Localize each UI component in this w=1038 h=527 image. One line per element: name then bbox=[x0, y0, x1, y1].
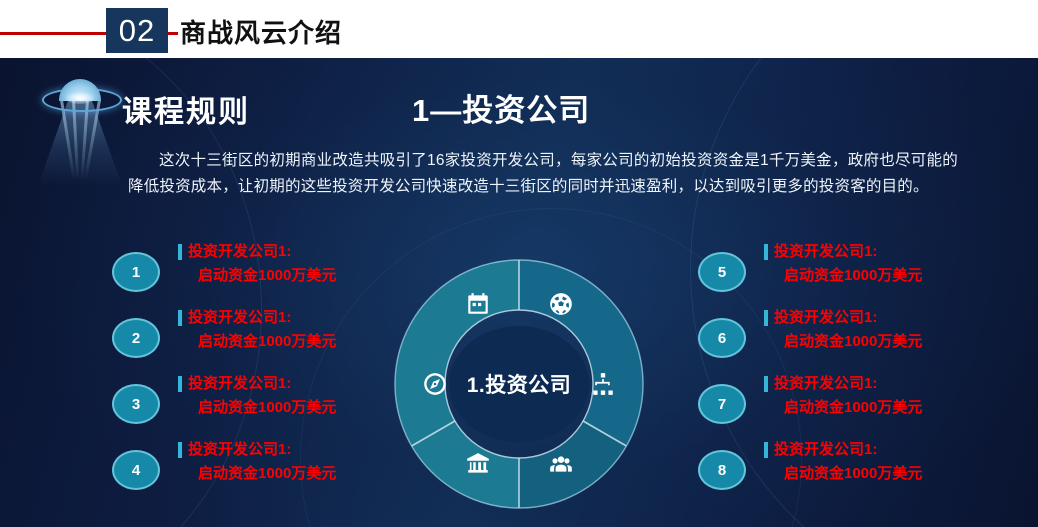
donut-center-label: 1.投资公司 bbox=[467, 369, 572, 399]
bank-icon bbox=[465, 451, 491, 477]
item-line1: 投资开发公司1: bbox=[188, 375, 291, 392]
header-red-rule bbox=[0, 32, 112, 35]
item-accent-bar bbox=[764, 376, 768, 392]
item-accent-bar bbox=[178, 244, 182, 260]
hierarchy-icon bbox=[590, 371, 616, 397]
item-line2: 启动资金1000万美元 bbox=[774, 264, 922, 288]
item-line1: 投资开发公司1: bbox=[188, 309, 291, 326]
item-number: 8 bbox=[718, 463, 726, 478]
list-item[interactable]: 2 投资开发公司1: 启动资金1000万美元 bbox=[112, 306, 382, 372]
item-number: 7 bbox=[718, 397, 726, 412]
globe-icon bbox=[548, 291, 574, 317]
item-number-badge: 7 bbox=[698, 384, 746, 424]
item-line2: 启动资金1000万美元 bbox=[774, 462, 922, 486]
list-item[interactable]: 8 投资开发公司1: 启动资金1000万美元 bbox=[698, 438, 978, 504]
section-title: 商战风云介绍 bbox=[180, 13, 342, 50]
item-number-badge: 8 bbox=[698, 450, 746, 490]
item-line1: 投资开发公司1: bbox=[188, 243, 291, 260]
item-number-badge: 3 bbox=[112, 384, 160, 424]
item-text: 投资开发公司1: 启动资金1000万美元 bbox=[188, 438, 336, 486]
item-number: 4 bbox=[132, 463, 140, 478]
investor-list-left: 1 投资开发公司1: 启动资金1000万美元 2 投资开发公司1: 启动资金10… bbox=[112, 240, 382, 504]
item-number: 1 bbox=[132, 265, 140, 280]
item-accent-bar bbox=[178, 310, 182, 326]
list-item[interactable]: 6 投资开发公司1: 启动资金1000万美元 bbox=[698, 306, 978, 372]
slide-header: 02 商战风云介绍 bbox=[0, 0, 1038, 58]
list-item[interactable]: 7 投资开发公司1: 启动资金1000万美元 bbox=[698, 372, 978, 438]
item-accent-bar bbox=[764, 310, 768, 326]
item-accent-bar bbox=[178, 376, 182, 392]
item-line2: 启动资金1000万美元 bbox=[188, 330, 336, 354]
item-number: 5 bbox=[718, 265, 726, 280]
heading-topic: 1—投资公司 bbox=[412, 85, 590, 130]
item-number: 3 bbox=[132, 397, 140, 412]
item-line1: 投资开发公司1: bbox=[774, 309, 877, 326]
ufo-spotlight-icon bbox=[28, 72, 132, 192]
item-text: 投资开发公司1: 启动资金1000万美元 bbox=[188, 306, 336, 354]
item-number: 2 bbox=[132, 331, 140, 346]
donut-center-hub: 1.投资公司 bbox=[449, 326, 589, 442]
slide-canvas: 02 商战风云介绍 课程规则 1—投资公司 这次十三街区的初期商业改造共吸引了1… bbox=[0, 0, 1038, 527]
item-line1: 投资开发公司1: bbox=[188, 441, 291, 458]
list-item[interactable]: 1 投资开发公司1: 启动资金1000万美元 bbox=[112, 240, 382, 306]
item-text: 投资开发公司1: 启动资金1000万美元 bbox=[188, 372, 336, 420]
item-line2: 启动资金1000万美元 bbox=[774, 330, 922, 354]
compass-icon bbox=[422, 371, 448, 397]
item-line1: 投资开发公司1: bbox=[774, 441, 877, 458]
item-number-badge: 2 bbox=[112, 318, 160, 358]
item-number-badge: 1 bbox=[112, 252, 160, 292]
item-line1: 投资开发公司1: bbox=[774, 375, 877, 392]
heading-course-rules: 课程规则 bbox=[122, 87, 250, 131]
item-accent-bar bbox=[764, 244, 768, 260]
item-number-badge: 4 bbox=[112, 450, 160, 490]
list-item[interactable]: 5 投资开发公司1: 启动资金1000万美元 bbox=[698, 240, 978, 306]
item-text: 投资开发公司1: 启动资金1000万美元 bbox=[774, 372, 922, 420]
item-line2: 启动资金1000万美元 bbox=[774, 396, 922, 420]
item-line2: 启动资金1000万美元 bbox=[188, 396, 336, 420]
calendar-icon bbox=[465, 291, 491, 317]
item-text: 投资开发公司1: 启动资金1000万美元 bbox=[774, 438, 922, 486]
item-text: 投资开发公司1: 启动资金1000万美元 bbox=[188, 240, 336, 288]
body-paragraph: 这次十三街区的初期商业改造共吸引了16家投资开发公司，每家公司的初始投资资金是1… bbox=[128, 148, 958, 200]
ufo-glow bbox=[66, 92, 94, 104]
item-accent-bar bbox=[178, 442, 182, 458]
header-red-dash bbox=[168, 32, 178, 35]
item-text: 投资开发公司1: 启动资金1000万美元 bbox=[774, 240, 922, 288]
item-accent-bar bbox=[764, 442, 768, 458]
list-item[interactable]: 3 投资开发公司1: 启动资金1000万美元 bbox=[112, 372, 382, 438]
item-line2: 启动资金1000万美元 bbox=[188, 264, 336, 288]
item-number-badge: 5 bbox=[698, 252, 746, 292]
people-icon bbox=[548, 451, 574, 477]
investment-company-wheel: 1.投资公司 bbox=[393, 258, 645, 510]
investor-list-right: 5 投资开发公司1: 启动资金1000万美元 6 投资开发公司1: 启动资金10… bbox=[698, 240, 978, 504]
item-text: 投资开发公司1: 启动资金1000万美元 bbox=[774, 306, 922, 354]
item-number-badge: 6 bbox=[698, 318, 746, 358]
item-line1: 投资开发公司1: bbox=[774, 243, 877, 260]
item-number: 6 bbox=[718, 331, 726, 346]
section-number-box: 02 bbox=[106, 8, 168, 53]
list-item[interactable]: 4 投资开发公司1: 启动资金1000万美元 bbox=[112, 438, 382, 504]
item-line2: 启动资金1000万美元 bbox=[188, 462, 336, 486]
section-number: 02 bbox=[119, 15, 155, 46]
slide-body: 课程规则 1—投资公司 这次十三街区的初期商业改造共吸引了16家投资开发公司，每… bbox=[0, 58, 1038, 527]
